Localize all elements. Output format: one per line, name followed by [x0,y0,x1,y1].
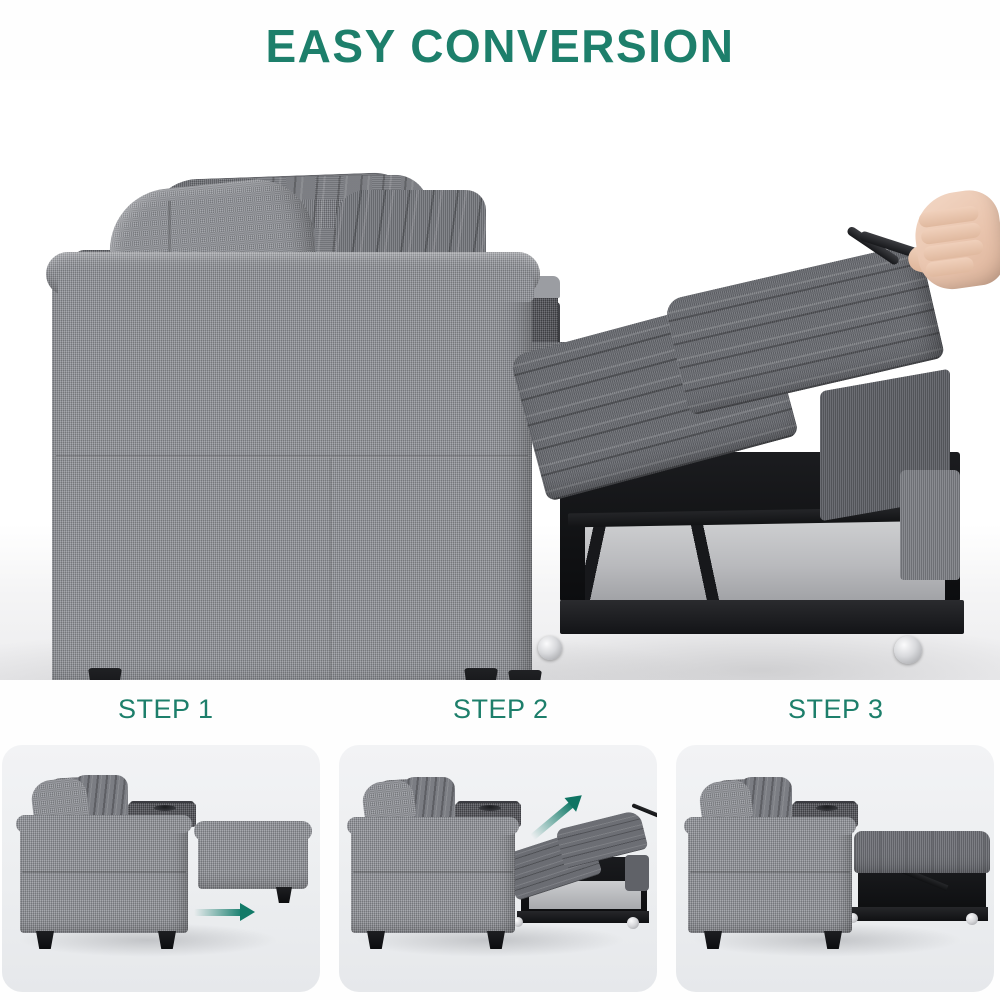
caster-wheel-right [966,913,978,925]
step-label-2: STEP 2 [453,694,549,725]
flat-bed-mattress-surface [854,831,990,873]
step-panel-2[interactable] [339,745,657,992]
reclined-section-arm [900,470,960,580]
step-panels-row [0,745,1000,995]
cup-holder [816,805,838,811]
step-2-illustration [339,745,657,992]
step-labels-row: STEP 1 STEP 2 STEP 3 [0,694,1000,730]
sofa-foot-rear-2 [508,670,542,680]
caster-wheel-left [538,636,562,660]
ottoman-foot [276,887,292,903]
sofa-foot-front [88,668,122,680]
armrest-top-roll [684,817,856,835]
step-label-3: STEP 3 [788,694,884,725]
caster-wheel-right [627,917,639,929]
sofa-side-arm-panel [351,825,515,933]
product-infographic: EASY CONVERSION [0,0,1000,1000]
side-panel-seam [22,871,186,873]
step-panel-3[interactable] [676,745,994,992]
armrest-top-surface [58,276,534,302]
sofa-foot-rear [464,668,498,680]
step-3-illustration [676,745,994,992]
side-panel-seam [353,871,513,873]
sofa-side-arm-panel [688,825,852,933]
side-panel-seam [330,458,333,680]
step-panel-1[interactable] [2,745,320,992]
arrow-head [240,903,255,921]
sofa-side-arm-panel [20,823,188,933]
side-panel-seam [690,871,850,873]
page-title-container: EASY CONVERSION [0,0,1000,92]
hero-product-image [0,80,1000,680]
pullout-ottoman-top [194,821,312,841]
caster-wheel-right [894,636,922,664]
step-label-1: STEP 1 [118,694,214,725]
reclined-section-arm [625,855,649,891]
frame-slats [585,518,945,604]
right-arrow-icon [194,906,242,919]
armrest-top-roll [16,815,192,833]
frame-front-bar [560,600,964,634]
armrest-top-roll [347,817,519,835]
cup-holder [154,805,176,811]
cup-holder [479,805,501,811]
sofa-side-arm-panel [52,270,532,680]
arrow-shaft [194,909,242,916]
step-1-illustration [2,745,320,992]
page-title: EASY CONVERSION [266,19,735,73]
